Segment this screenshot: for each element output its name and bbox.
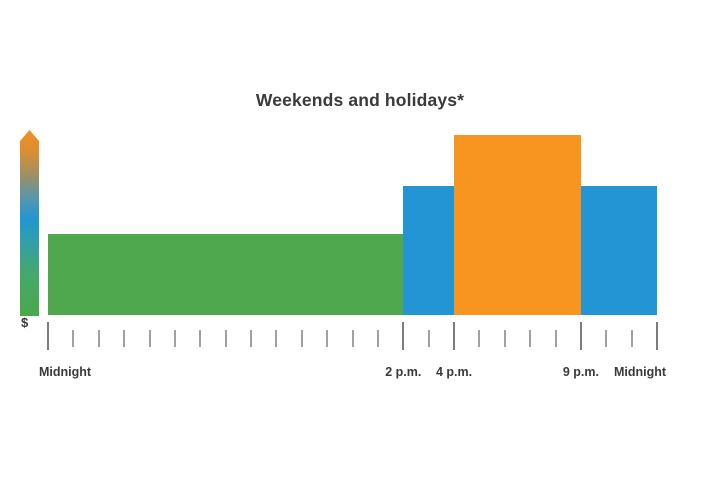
x-axis-minor-tick bbox=[149, 330, 151, 347]
x-axis-minor-tick bbox=[199, 330, 201, 347]
x-axis-minor-tick bbox=[275, 330, 277, 347]
x-axis-minor-tick bbox=[428, 330, 430, 347]
x-axis-major-tick bbox=[47, 322, 49, 350]
x-axis-minor-tick bbox=[352, 330, 354, 347]
bar-segment bbox=[403, 186, 454, 315]
x-axis-tick-label: 9 p.m. bbox=[563, 366, 599, 379]
x-axis-minor-tick bbox=[529, 330, 531, 347]
x-axis-minor-tick bbox=[123, 330, 125, 347]
bar-segment bbox=[581, 186, 657, 315]
x-axis-major-tick bbox=[656, 322, 658, 350]
x-axis-tick-label: 4 p.m. bbox=[436, 366, 472, 379]
x-axis-minor-tick bbox=[478, 330, 480, 347]
x-axis-minor-tick bbox=[98, 330, 100, 347]
x-axis-tick-label: 2 p.m. bbox=[385, 366, 421, 379]
x-axis-major-tick bbox=[580, 322, 582, 350]
x-axis-tick-label: Midnight bbox=[39, 366, 91, 379]
bar-segment bbox=[454, 135, 581, 315]
x-axis-minor-tick bbox=[326, 330, 328, 347]
x-axis-minor-tick bbox=[225, 330, 227, 347]
x-axis-minor-tick bbox=[174, 330, 176, 347]
plot-area: Midnight2 p.m.4 p.m.9 p.m.Midnight bbox=[0, 0, 720, 480]
chart-container: Weekends and holidays* $ Midnight2 p.m.4… bbox=[0, 0, 720, 480]
x-axis-major-tick bbox=[453, 322, 455, 350]
x-axis-minor-tick bbox=[301, 330, 303, 347]
x-axis-minor-tick bbox=[250, 330, 252, 347]
x-axis-minor-tick bbox=[377, 330, 379, 347]
bar-segment bbox=[48, 234, 403, 315]
x-axis-major-tick bbox=[402, 322, 404, 350]
x-axis-minor-tick bbox=[72, 330, 74, 347]
x-axis-minor-tick bbox=[631, 330, 633, 347]
x-axis-tick-label: Midnight bbox=[614, 366, 666, 379]
x-axis-minor-tick bbox=[504, 330, 506, 347]
x-axis-minor-tick bbox=[555, 330, 557, 347]
x-axis-minor-tick bbox=[605, 330, 607, 347]
